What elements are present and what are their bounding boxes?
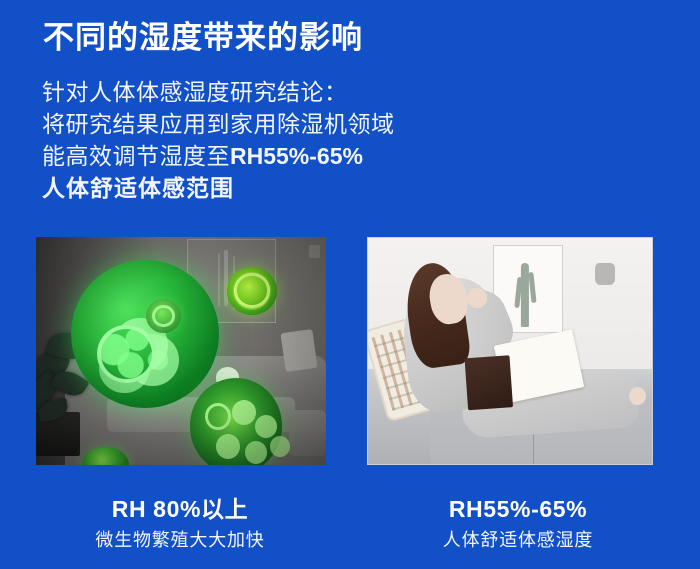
panel-image-comfort-humidity <box>367 237 653 465</box>
caption-main-label: RH55%-65% <box>358 495 678 523</box>
intro-line-3-prefix: 能高效调节湿度至 <box>42 143 230 169</box>
image-panel-group <box>0 237 700 465</box>
caption-comfort-humidity: RH55%-65% 人体舒适体感湿度 <box>358 495 678 553</box>
humidity-infographic-slide: 不同的湿度带来的影响 针对人体体感湿度研究结论： 将研究结果应用到家用除湿机领域… <box>0 0 700 569</box>
caption-sub-label: 微生物繁殖大大加快 <box>20 527 340 553</box>
page-title: 不同的湿度带来的影响 <box>43 18 363 58</box>
wall-speaker <box>595 263 615 286</box>
intro-line-3: 能高效调节湿度至RH55%-65% <box>42 140 395 172</box>
intro-line-2: 将研究结果应用到家用除湿机领域 <box>42 108 395 140</box>
intro-line-4: 人体舒适体感范围 <box>42 172 395 204</box>
intro-line-1: 针对人体体感湿度研究结论： <box>42 76 395 108</box>
caption-high-humidity: RH 80%以上 微生物繁殖大大加快 <box>20 495 340 553</box>
caption-main-label: RH 80%以上 <box>20 495 340 523</box>
caption-sub-label: 人体舒适体感湿度 <box>358 527 678 553</box>
intro-paragraph: 针对人体体感湿度研究结论： 将研究结果应用到家用除湿机领域 能高效调节湿度至RH… <box>42 76 395 204</box>
intro-line-3-emphasis: RH55%-65% <box>230 143 363 169</box>
panel-image-high-humidity <box>36 237 326 465</box>
sofa-seam <box>533 432 534 464</box>
cactus-illustration <box>521 263 529 327</box>
photo-vignette <box>36 237 326 465</box>
